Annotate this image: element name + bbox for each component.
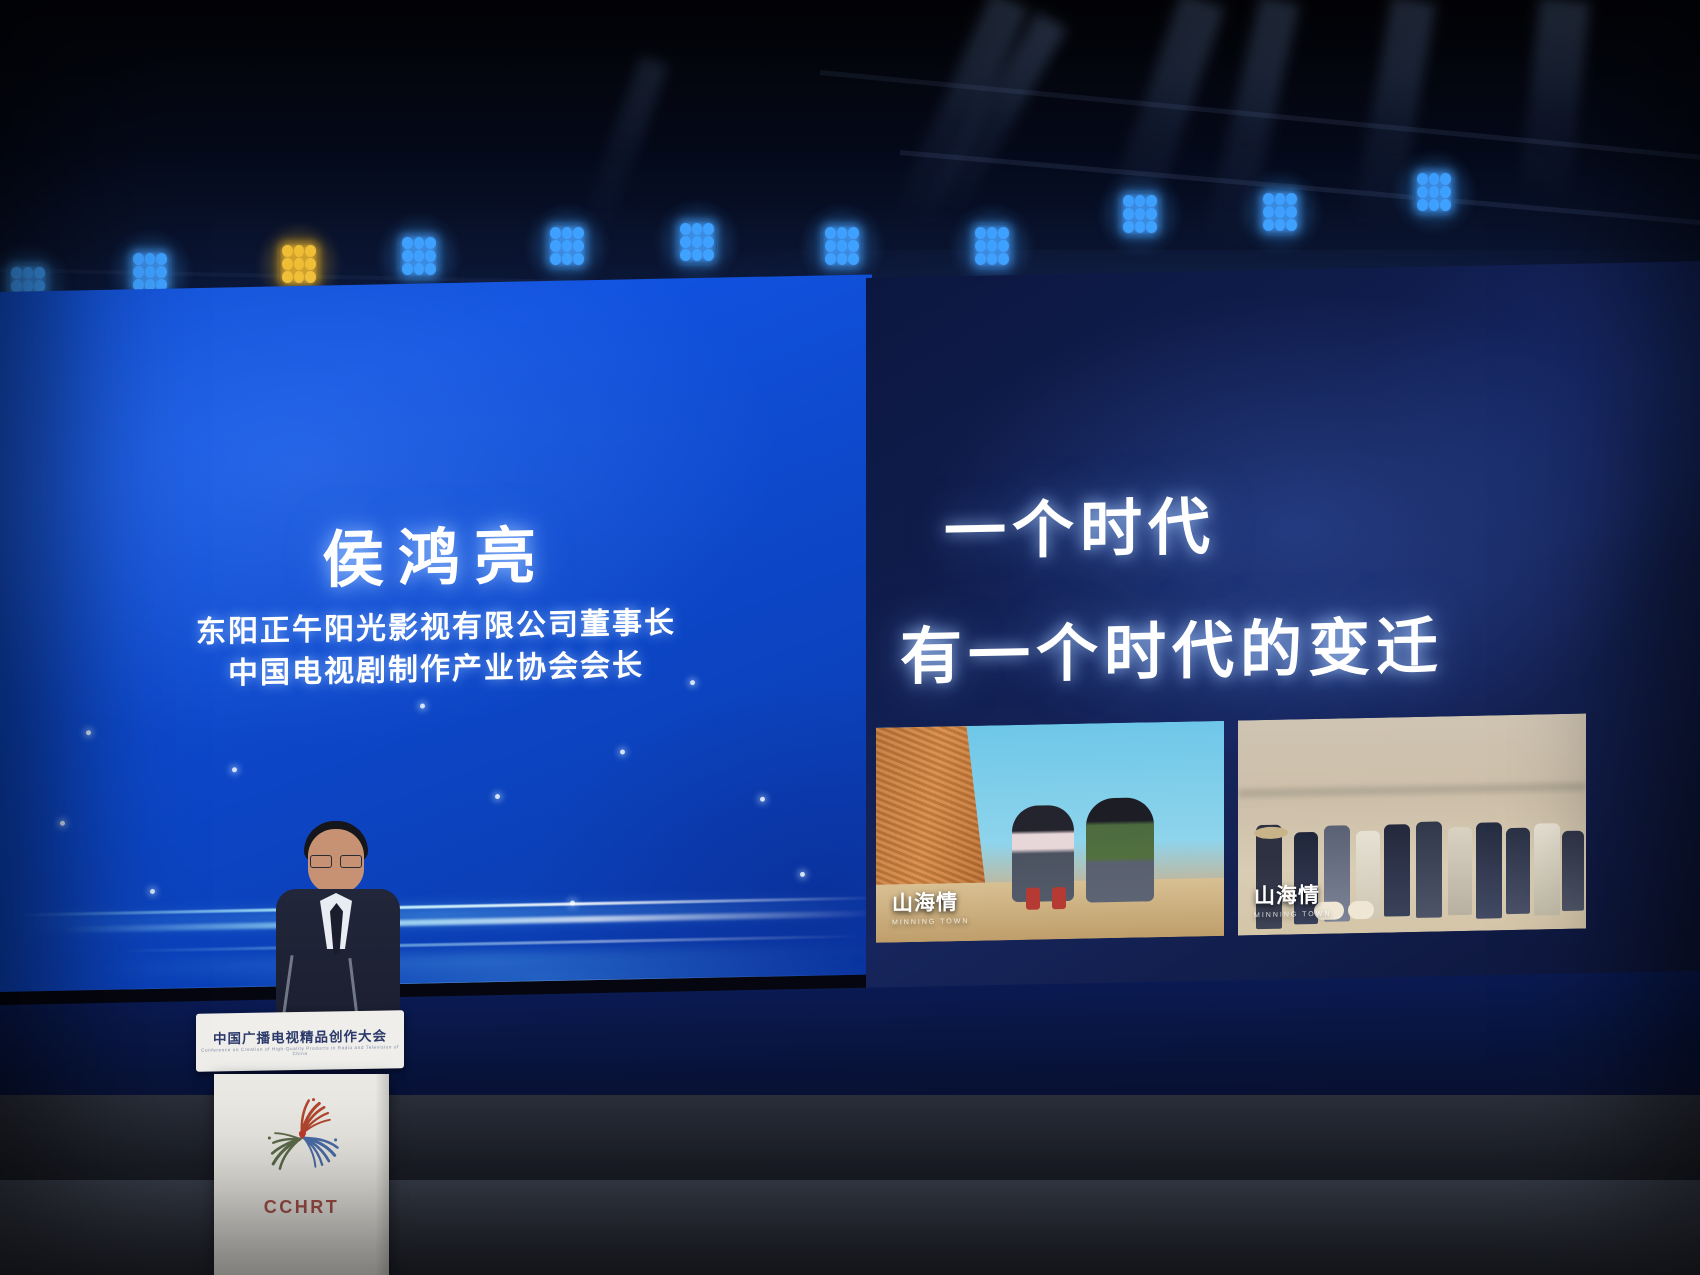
right-led-wall-slide: 一个时代 有一个时代的变迁 山海情 MINNING TOWN [866,261,1700,1018]
crowd-figure [1476,822,1502,919]
crowd-figure [1562,831,1584,911]
crowd-figure [1534,823,1560,916]
still-caption-cn: 山海情 [892,891,958,915]
stage-photograph: 侯鸿亮 东阳正午阳光影视有限公司董事长 中国电视剧制作产业协会会长 一个时代 [0,0,1700,1275]
slide-still-1: 山海情 MINNING TOWN [876,721,1224,943]
speaker-nameplate: 侯鸿亮 东阳正午阳光影视有限公司董事长 中国电视剧制作产业协会会长 [0,519,872,699]
glasses-icon [310,855,362,866]
stage-light-fixture [545,222,589,270]
cchrt-logo: CCHRT [214,1090,389,1218]
left-led-wall: 侯鸿亮 东阳正午阳光影视有限公司董事长 中国电视剧制作产业协会会长 [0,274,872,992]
stage-light-fixture-amber [277,240,321,288]
slide-title-line-2: 有一个时代的变迁 [866,590,1700,697]
podium: 中国广播电视精品创作大会 Conference on Creation of H… [196,1012,404,1275]
crowd-figure [1416,821,1442,918]
podium-banner: 中国广播电视精品创作大会 Conference on Creation of H… [196,1010,404,1072]
crowd-figure [1448,827,1472,915]
stage-light-fixture [1118,190,1162,238]
stage-light-fixture [675,218,719,266]
stage-light-fixture [970,222,1014,270]
still-caption-cn: 山海情 [1254,884,1320,908]
speaker-person [272,815,404,1015]
stage-light-fixture [397,232,441,280]
crowd-figure [1506,828,1530,914]
straw-hat [1254,827,1288,840]
still-caption: 山海情 MINNING TOWN [1254,879,1331,920]
slide-stills-row: 山海情 MINNING TOWN [876,711,1700,943]
slide-title-line-1: 一个时代 [866,466,1700,573]
stage-light-fixture [820,222,864,270]
still-caption: 山海情 MINNING TOWN [892,886,969,927]
slide-still-2: 山海情 MINNING TOWN [1238,714,1586,936]
cchrt-logo-text: CCHRT [214,1197,389,1218]
crowd-figure [1384,824,1410,917]
podium-front-panel: CCHRT [214,1074,389,1275]
cchrt-swirl-logo-icon [254,1090,350,1186]
stage-light-fixture [1412,168,1456,216]
slide-headline: 一个时代 有一个时代的变迁 [866,466,1700,697]
stage-light-fixture [1258,188,1302,236]
sheep [1348,901,1374,920]
